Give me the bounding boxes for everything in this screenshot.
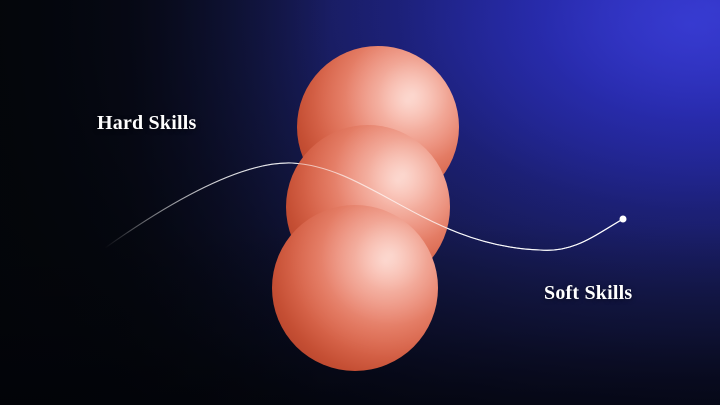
curve-stroke-front bbox=[105, 163, 623, 250]
label-soft-skills: Soft Skills bbox=[544, 282, 632, 305]
connector-curve-front bbox=[0, 0, 720, 405]
curve-endpoint-dot bbox=[620, 216, 627, 223]
label-hard-skills: Hard Skills bbox=[97, 112, 196, 135]
presentation-slide: Hard Skills Soft Skills bbox=[0, 0, 720, 405]
